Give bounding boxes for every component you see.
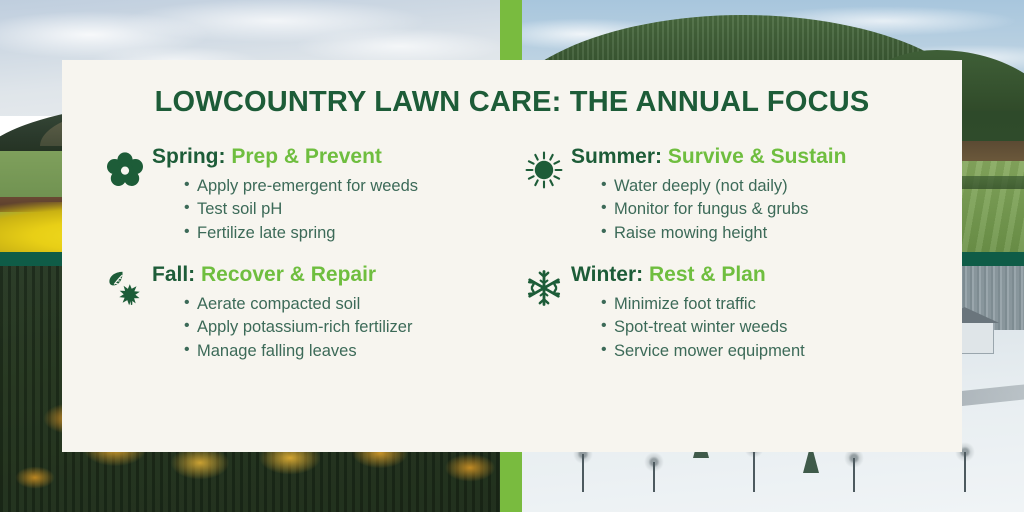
list-item: Aerate compacted soil — [184, 293, 503, 316]
season-name-spring: Spring: — [152, 145, 226, 168]
season-body-winter: Winter: Rest & Plan Minimize foot traffi… — [567, 263, 922, 363]
season-heading-fall: Fall: Recover & Repair — [152, 263, 503, 288]
season-tagline-fall: Recover & Repair — [201, 263, 376, 286]
list-item: Minimize foot traffic — [601, 293, 922, 316]
list-item: Fertilize late spring — [184, 222, 503, 245]
season-bullets-fall: Aerate compacted soil Apply potassium-ri… — [152, 293, 503, 363]
season-name-summer: Summer: — [571, 145, 662, 168]
list-item: Manage falling leaves — [184, 340, 503, 363]
season-block-winter: Winter: Rest & Plan Minimize foot traffi… — [521, 263, 922, 363]
season-tagline-summer: Survive & Sustain — [668, 145, 847, 168]
list-item: Monitor for fungus & grubs — [601, 198, 922, 221]
winter-bare-tree — [582, 454, 584, 492]
list-item: Spot-treat winter weeds — [601, 316, 922, 339]
winter-bare-tree — [753, 448, 755, 492]
season-body-fall: Fall: Recover & Repair Aerate compacted … — [148, 263, 503, 363]
list-item: Service mower equipment — [601, 340, 922, 363]
season-heading-winter: Winter: Rest & Plan — [571, 263, 922, 288]
season-bullets-winter: Minimize foot traffic Spot-treat winter … — [571, 293, 922, 363]
content-card: LOWCOUNTRY LAWN CARE: THE ANNUAL FOCUS — [62, 60, 962, 452]
season-tagline-winter: Rest & Plan — [649, 263, 766, 286]
season-block-summer: Summer: Survive & Sustain Water deeply (… — [521, 145, 922, 245]
winter-bare-tree — [853, 458, 855, 492]
winter-bare-tree — [653, 462, 655, 492]
flower-icon — [102, 147, 148, 193]
season-body-spring: Spring: Prep & Prevent Apply pre-emergen… — [148, 145, 503, 245]
season-bullets-summer: Water deeply (not daily) Monitor for fun… — [571, 175, 922, 245]
list-item: Apply potassium-rich fertilizer — [184, 316, 503, 339]
season-heading-spring: Spring: Prep & Prevent — [152, 145, 503, 170]
list-item: Raise mowing height — [601, 222, 922, 245]
season-tagline-spring: Prep & Prevent — [231, 145, 382, 168]
seasons-grid: Spring: Prep & Prevent Apply pre-emergen… — [102, 145, 922, 363]
list-item: Test soil pH — [184, 198, 503, 221]
leaves-icon — [102, 265, 148, 311]
season-block-fall: Fall: Recover & Repair Aerate compacted … — [102, 263, 503, 363]
season-heading-summer: Summer: Survive & Sustain — [571, 145, 922, 170]
list-item: Water deeply (not daily) — [601, 175, 922, 198]
sun-icon — [521, 147, 567, 193]
infographic-canvas: LOWCOUNTRY LAWN CARE: THE ANNUAL FOCUS — [0, 0, 1024, 512]
season-block-spring: Spring: Prep & Prevent Apply pre-emergen… — [102, 145, 503, 245]
season-bullets-spring: Apply pre-emergent for weeds Test soil p… — [152, 175, 503, 245]
page-title: LOWCOUNTRY LAWN CARE: THE ANNUAL FOCUS — [102, 86, 922, 119]
season-name-winter: Winter: — [571, 263, 643, 286]
snowflake-icon — [521, 265, 567, 311]
list-item: Apply pre-emergent for weeds — [184, 175, 503, 198]
season-body-summer: Summer: Survive & Sustain Water deeply (… — [567, 145, 922, 245]
winter-bare-tree — [964, 452, 966, 492]
season-name-fall: Fall: — [152, 263, 195, 286]
